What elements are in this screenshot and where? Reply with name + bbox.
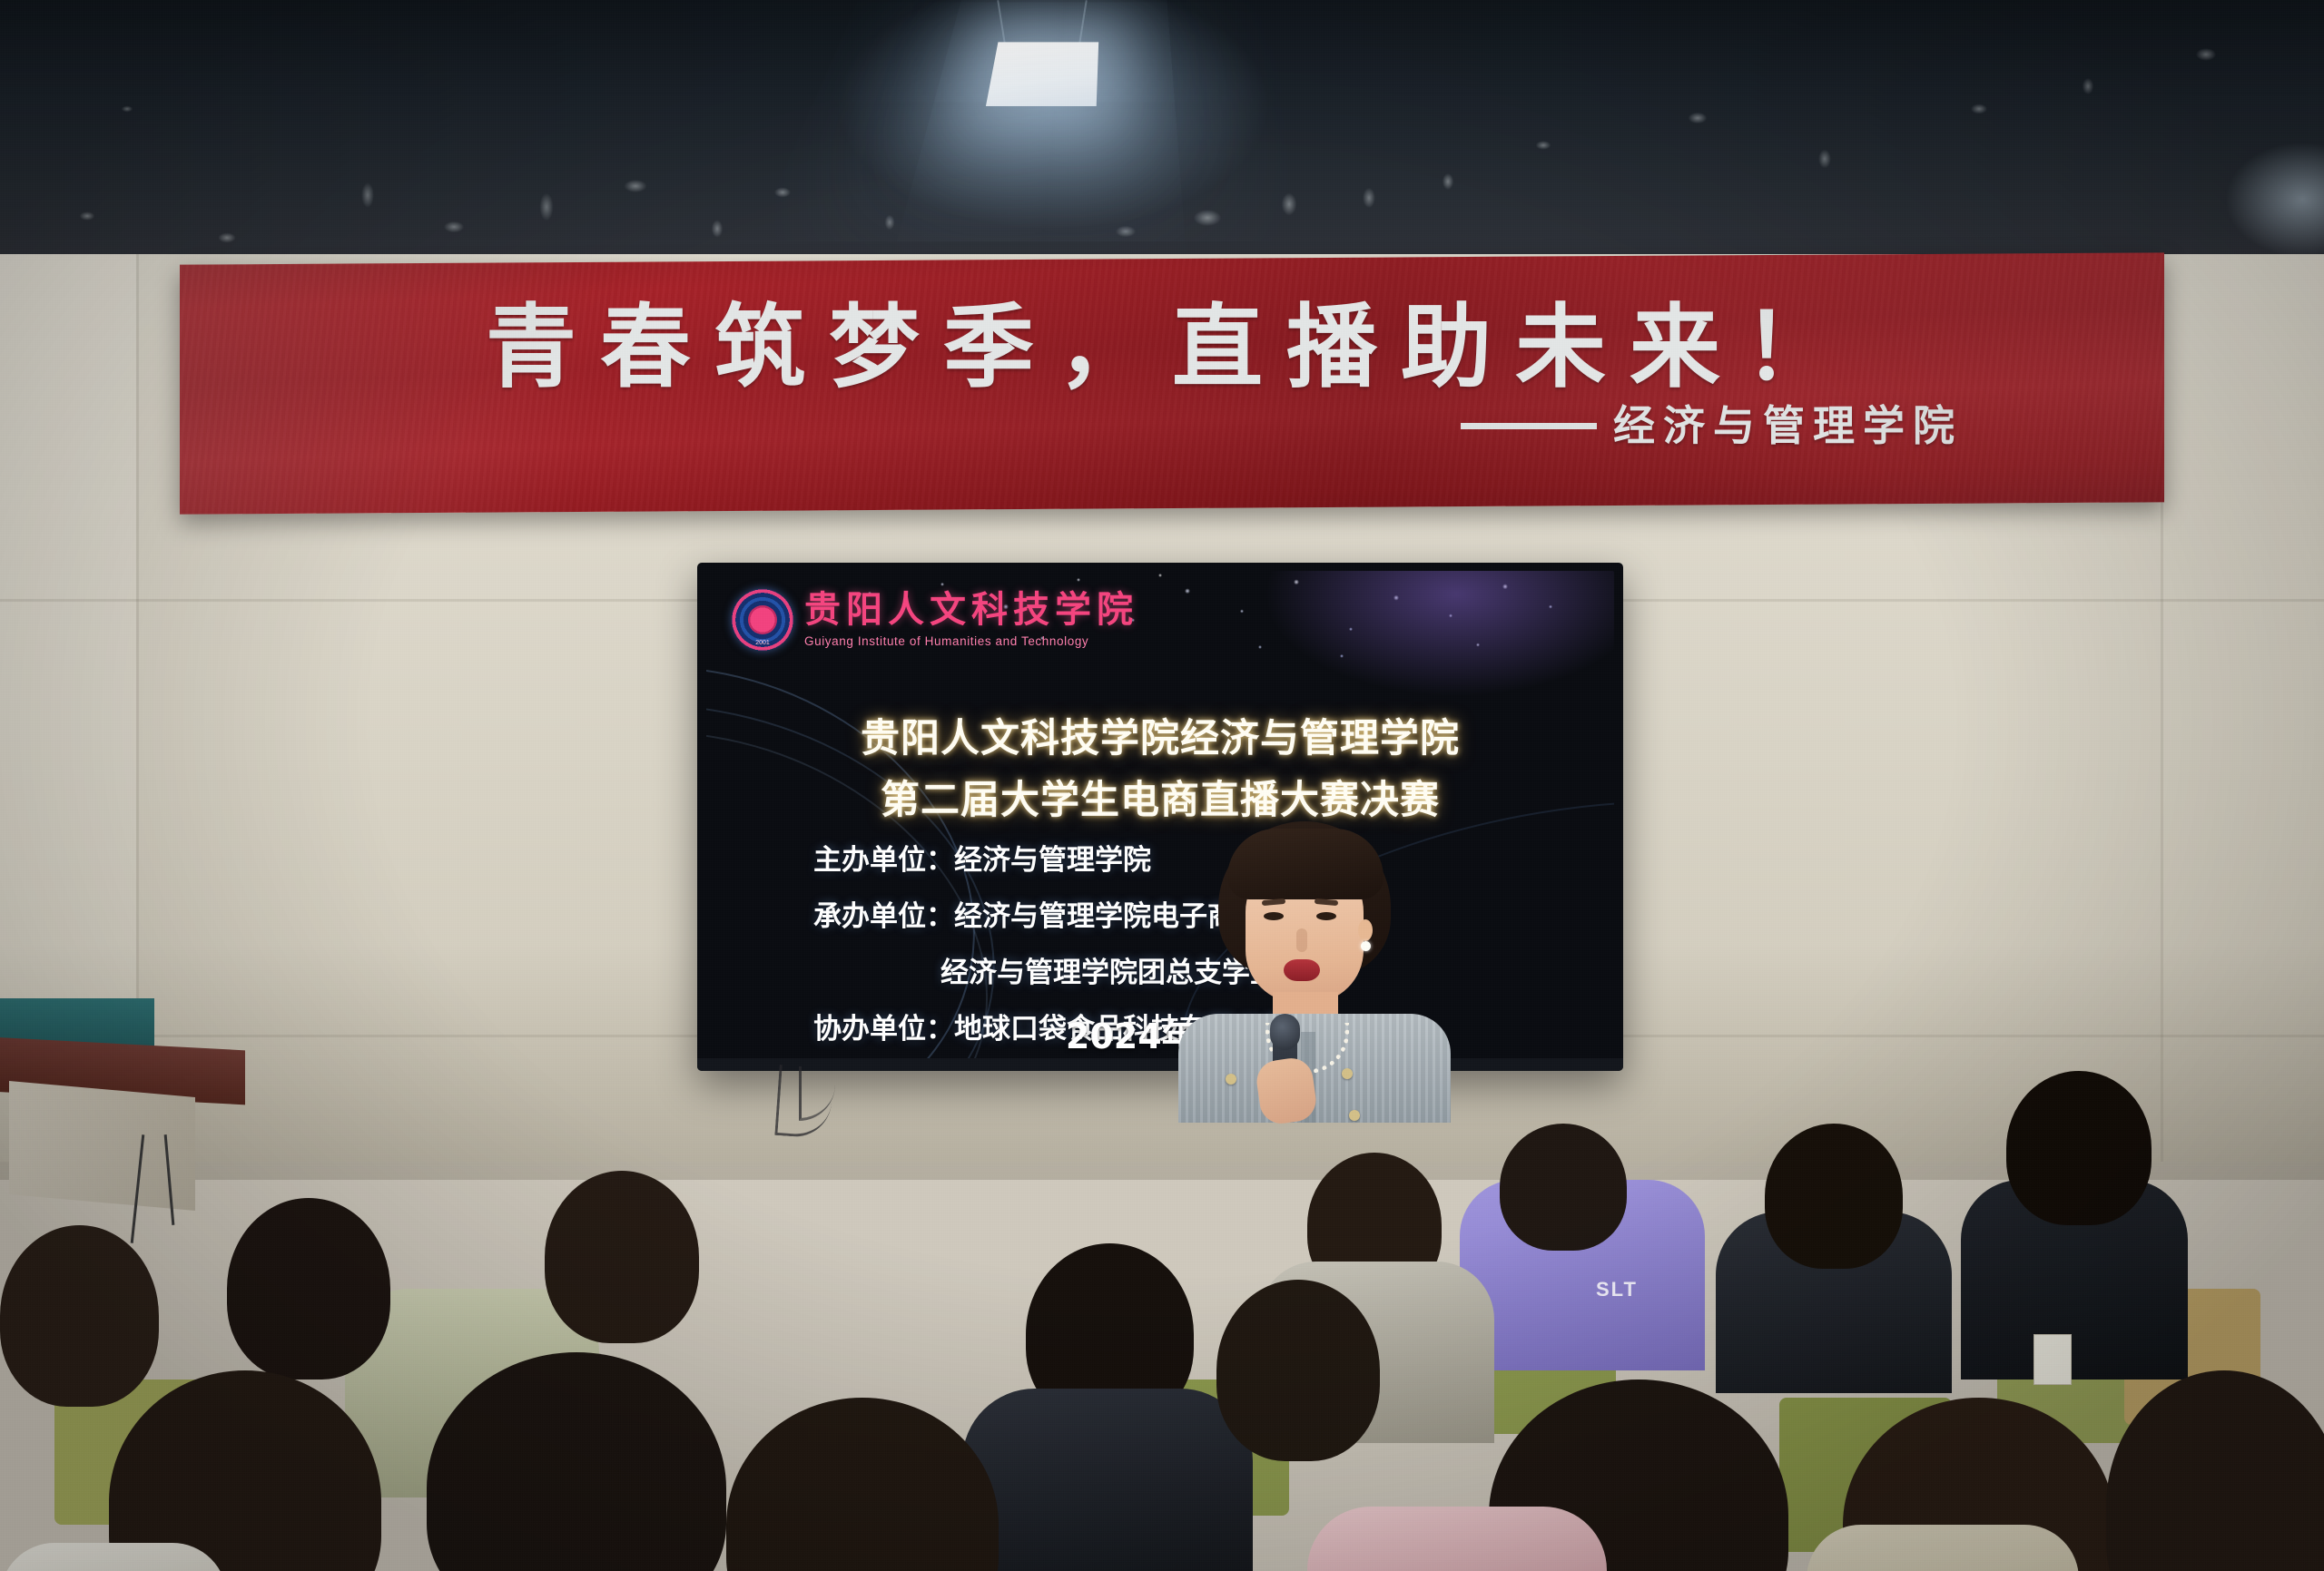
banner-attribution-row: 经济与管理学院 bbox=[1461, 393, 1963, 453]
audience-head-1 bbox=[1500, 1124, 1627, 1251]
ceiling bbox=[0, 0, 2324, 260]
speaker-eye-right bbox=[1316, 912, 1336, 920]
audience-head-front-3 bbox=[726, 1398, 999, 1571]
audience-head-2 bbox=[1765, 1124, 1903, 1269]
audience-head-5 bbox=[545, 1171, 699, 1343]
university-name-en: Guiyang Institute of Humanities and Tech… bbox=[804, 634, 1138, 648]
university-logo: 2001 贵阳人文科技学院 Guiyang Institute of Human… bbox=[732, 589, 1138, 651]
slide-title-line2: 第二届大学生电商直播大赛决赛 bbox=[706, 769, 1614, 825]
university-name-cn: 贵阳人文科技学院 bbox=[804, 592, 1138, 628]
speaker-eye-left bbox=[1264, 912, 1284, 920]
event-banner: 青春筑梦季，直播助未来！ 经济与管理学院 bbox=[180, 252, 2164, 514]
audience-head-3 bbox=[2006, 1071, 2152, 1225]
ceiling-glow bbox=[763, 0, 1344, 263]
audience-head-9 bbox=[1216, 1280, 1380, 1461]
audience-body-front-pink bbox=[1307, 1507, 1607, 1571]
audience-area: SLT bbox=[0, 1016, 2324, 1571]
speaker-earring bbox=[1361, 941, 1371, 951]
banner-attribution: 经济与管理学院 bbox=[1613, 393, 1963, 453]
audience-head-6 bbox=[227, 1198, 390, 1380]
crest-year: 2001 bbox=[732, 640, 793, 646]
detail-label: 承办单位： bbox=[813, 900, 954, 933]
banner-title: 青春筑梦季，直播助未来！ bbox=[180, 273, 2164, 405]
name-tag bbox=[2033, 1334, 2072, 1385]
detail-label: 主办单位： bbox=[813, 844, 954, 877]
audience-body-front-cream bbox=[1807, 1525, 2079, 1571]
slide-title-line1: 贵阳人文科技学院经济与管理学院 bbox=[706, 707, 1614, 763]
detail-value: 经济与管理学院 bbox=[954, 844, 1151, 877]
hoodie-logo-text: SLT bbox=[1596, 1278, 1638, 1301]
banner-dash-icon bbox=[1461, 423, 1597, 429]
slide-screen: 2001 贵阳人文科技学院 Guiyang Institute of Human… bbox=[706, 571, 1614, 1058]
university-crest-icon: 2001 bbox=[732, 589, 793, 651]
audience-body-front-white bbox=[0, 1543, 227, 1571]
speaker-mouth bbox=[1284, 959, 1320, 981]
audience-body-dark-3 bbox=[962, 1389, 1253, 1571]
ceiling-light-icon bbox=[986, 42, 1098, 106]
audience-head-7 bbox=[0, 1225, 159, 1407]
speaker-hair-front bbox=[1227, 829, 1384, 899]
speaker-ear bbox=[1358, 919, 1373, 941]
speaker-nose bbox=[1296, 928, 1307, 952]
presentation-display: 2001 贵阳人文科技学院 Guiyang Institute of Human… bbox=[697, 563, 1623, 1071]
photo-scene: 青春筑梦季，直播助未来！ 经济与管理学院 2001 贵阳人文科技学院 Guiya… bbox=[0, 0, 2324, 1571]
